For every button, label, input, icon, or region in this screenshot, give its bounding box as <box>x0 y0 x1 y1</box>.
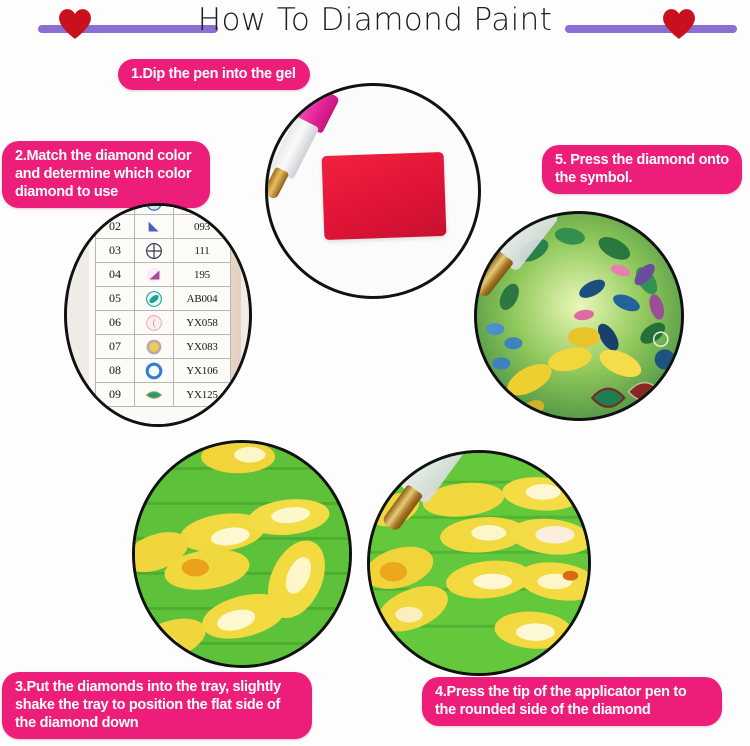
teal-leaf-symbol <box>135 383 174 407</box>
teal-oval-symbol <box>135 287 174 311</box>
table-row: 05 AB004 <box>96 287 231 311</box>
table-row: 08 YX106 <box>96 359 231 383</box>
teal-oval-icon <box>145 290 163 308</box>
red-crescent-symbol <box>135 311 174 335</box>
step-3-image <box>135 443 349 665</box>
row-index: 05 <box>96 287 135 311</box>
header: How To Diamond Paint <box>0 0 750 58</box>
blue-circle-symbol <box>135 203 174 215</box>
step-4-label: 4.Press the tip of the applicator pen to… <box>422 677 722 726</box>
page-title: How To Diamond Paint <box>0 2 750 38</box>
pen-tip <box>265 167 289 201</box>
row-index: 04 <box>96 263 135 287</box>
yellow-dot-icon <box>145 338 163 356</box>
photo-color-chart: 01 028 02 093 <box>64 203 252 427</box>
teal-leaf-icon <box>145 386 163 404</box>
table-row: 07 YX083 <box>96 335 231 359</box>
step-5-image <box>474 211 684 421</box>
table-row: 04 195 <box>96 263 231 287</box>
row-index: 09 <box>96 383 135 407</box>
step-5-label: 5. Press the diamond onto the symbol. <box>542 145 742 194</box>
infographic-page: How To Diamond Paint 1.Dip the pen into … <box>0 0 750 746</box>
table-row: 09 YX125 <box>96 383 231 407</box>
row-index: 08 <box>96 359 135 383</box>
photo-diamonds-in-tray <box>132 440 352 668</box>
row-code: 195 <box>174 263 231 287</box>
row-code: YX125 <box>174 383 231 407</box>
photo-press-diamond-onto-symbol <box>474 211 684 421</box>
step-2-label: 2.Match the diamond color and determine … <box>2 141 210 208</box>
blue-ring-symbol <box>135 359 174 383</box>
row-index: 07 <box>96 335 135 359</box>
table-row: 03 111 <box>96 239 231 263</box>
chart-edge-strip <box>231 203 241 427</box>
purple-triangle-symbol <box>135 263 174 287</box>
row-code: YX058 <box>174 311 231 335</box>
blue-triangle-icon <box>145 218 163 236</box>
purple-triangle-icon <box>145 266 163 284</box>
pen-tip <box>474 251 514 299</box>
row-code: 093 <box>174 215 231 239</box>
yellow-dot-symbol <box>135 335 174 359</box>
step-3-label: 3.Put the diamonds into the tray, slight… <box>2 672 312 739</box>
color-chart-body: 01 028 02 093 <box>96 203 231 407</box>
row-code: YX083 <box>174 335 231 359</box>
row-code: 111 <box>174 239 231 263</box>
gel-pad <box>322 152 447 240</box>
step-4-image <box>370 453 588 673</box>
blue-triangle-symbol <box>135 215 174 239</box>
circled-plus-symbol <box>135 239 174 263</box>
photo-dip-pen-into-gel <box>265 83 481 299</box>
blue-circle-icon <box>145 203 163 212</box>
circled-plus-icon <box>145 242 163 260</box>
blue-ring-icon <box>145 362 163 380</box>
color-chart-table: 01 028 02 093 <box>95 203 231 407</box>
row-index: 02 <box>96 215 135 239</box>
table-row: 06 YX058 <box>96 311 231 335</box>
row-index: 03 <box>96 239 135 263</box>
red-crescent-icon <box>145 314 163 332</box>
photo-press-pen-on-diamond <box>367 450 591 676</box>
pen-tip <box>381 484 423 532</box>
row-code: AB004 <box>174 287 231 311</box>
table-row: 02 093 <box>96 215 231 239</box>
step-1-image <box>268 86 478 296</box>
row-index: 06 <box>96 311 135 335</box>
row-code: YX106 <box>174 359 231 383</box>
